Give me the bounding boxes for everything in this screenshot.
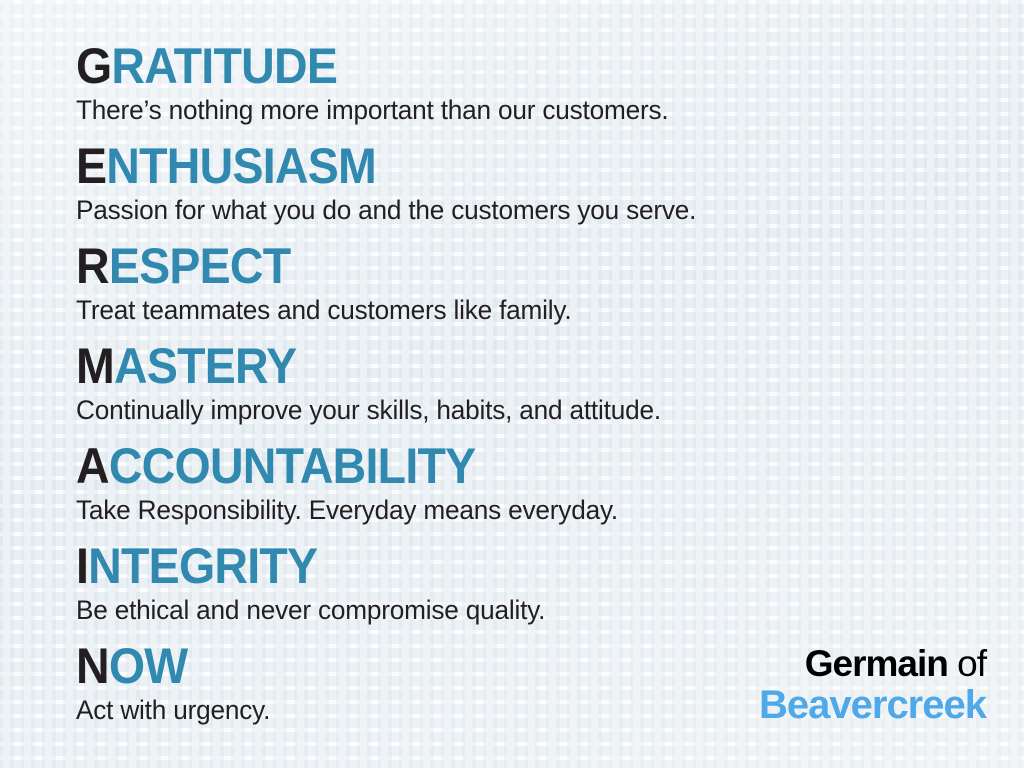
value-heading-rest: ASTERY bbox=[114, 338, 296, 394]
value-initial-letter: E bbox=[76, 138, 106, 194]
value-item-mastery: MASTERY Continually improve your skills,… bbox=[76, 336, 976, 436]
value-heading-rest: CCOUNTABILITY bbox=[109, 438, 476, 494]
brand-logo: Germain of Beavercreek bbox=[759, 644, 986, 726]
value-initial-letter: N bbox=[76, 638, 109, 694]
value-description-respect: Treat teammates and customers like famil… bbox=[76, 292, 949, 326]
value-description-accountability: Take Responsibility. Everyday means ever… bbox=[76, 492, 949, 526]
value-description-integrity: Be ethical and never compromise quality. bbox=[76, 592, 949, 626]
value-heading-rest: RATITUDE bbox=[111, 38, 337, 94]
value-heading-gratitude: GRATITUDE bbox=[76, 36, 913, 92]
value-description-enthusiasm: Passion for what you do and the customer… bbox=[76, 192, 949, 226]
value-description-gratitude: There’s nothing more important than our … bbox=[76, 92, 949, 126]
value-heading-rest: NTHUSIASM bbox=[106, 138, 376, 194]
value-item-respect: RESPECT Treat teammates and customers li… bbox=[76, 236, 976, 336]
value-initial-letter: R bbox=[76, 238, 109, 294]
values-list: GRATITUDE There’s nothing more important… bbox=[76, 36, 976, 736]
value-heading-respect: RESPECT bbox=[76, 236, 913, 292]
value-heading-rest: ESPECT bbox=[109, 238, 291, 294]
value-initial-letter: M bbox=[76, 338, 114, 394]
brand-logo-connector: of bbox=[948, 643, 986, 684]
value-initial-letter: A bbox=[76, 438, 109, 494]
brand-logo-location: Beavercreek bbox=[759, 684, 986, 726]
value-description-mastery: Continually improve your skills, habits,… bbox=[76, 392, 949, 426]
value-heading-enthusiasm: ENTHUSIASM bbox=[76, 136, 913, 192]
brand-logo-name: Germain bbox=[805, 643, 948, 684]
value-item-accountability: ACCOUNTABILITY Take Responsibility. Ever… bbox=[76, 436, 976, 536]
value-heading-accountability: ACCOUNTABILITY bbox=[76, 436, 913, 492]
value-item-enthusiasm: ENTHUSIASM Passion for what you do and t… bbox=[76, 136, 976, 236]
value-heading-rest: NTEGRITY bbox=[88, 538, 317, 594]
values-slide: GRATITUDE There’s nothing more important… bbox=[0, 0, 1024, 768]
value-heading-mastery: MASTERY bbox=[76, 336, 913, 392]
value-item-gratitude: GRATITUDE There’s nothing more important… bbox=[76, 36, 976, 136]
value-heading-integrity: INTEGRITY bbox=[76, 536, 913, 592]
value-item-integrity: INTEGRITY Be ethical and never compromis… bbox=[76, 536, 976, 636]
brand-logo-line-dealer: Germain of bbox=[759, 644, 986, 684]
value-heading-rest: OW bbox=[109, 638, 188, 694]
value-initial-letter: G bbox=[76, 38, 111, 94]
value-initial-letter: I bbox=[76, 538, 88, 594]
